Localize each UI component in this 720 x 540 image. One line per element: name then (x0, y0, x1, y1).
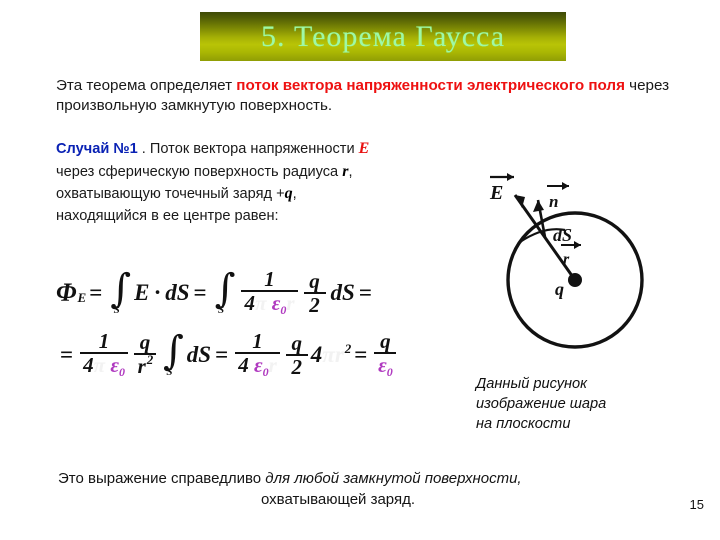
epsilon-subscript: 0 (263, 365, 269, 379)
flux-symbol-phi: Φ (56, 278, 77, 308)
equals-sign-3: = (359, 280, 372, 306)
integral-sign-2: ∫ S (215, 274, 236, 313)
equals-sign-1: = (89, 280, 102, 306)
integral-limit-S: S (218, 306, 224, 315)
fraction-q-over-r-squared: q r2 (134, 331, 156, 380)
fraction-denominator: 2 (306, 294, 323, 317)
fraction-numerator: q (376, 330, 395, 352)
fraction-one-over-4-eps0-r: 1 4 ε0r (235, 330, 280, 380)
label-E-group: E (489, 173, 514, 204)
fraction-numerator: q (305, 270, 324, 292)
case-line2-comma: , (348, 164, 352, 180)
case-line-4: находящийся в ее центре равен: (56, 206, 456, 228)
integral-glyph: ∫ (163, 336, 184, 366)
integral-glyph: ∫ (110, 274, 131, 304)
fraction-one-over-4-eps0: 1 4π ε0 (80, 330, 128, 380)
area-element-dS-2: dS (331, 280, 355, 306)
fraction-numerator: q (288, 332, 307, 354)
radius-r: r (138, 354, 146, 378)
integral-glyph: ∫ (215, 274, 236, 304)
factor-pi: π (322, 342, 335, 367)
radius-r: r (269, 353, 277, 377)
factor-r: r (335, 342, 344, 367)
case-label: Случай №1 (56, 141, 138, 157)
constant-4: 4 (83, 353, 94, 377)
closing-lead-text: Это выражение справедливо (58, 470, 265, 487)
case-line2-text: через сферическую поверхность радиуса (56, 164, 342, 180)
epsilon-zero: ε (110, 353, 119, 377)
factor-exponent-2: 2 (345, 341, 352, 356)
exponent-2: 2 (147, 352, 154, 367)
figure-caption: Данный рисунок изображение шара на плоск… (476, 374, 696, 434)
sphere-diagram-svg: E n dS r q (452, 152, 702, 368)
integral-limit-S: S (114, 306, 120, 315)
intro-highlight-line1: поток вектора напряженности электрическо… (236, 77, 584, 94)
fraction-denominator: ε0 (375, 354, 396, 380)
epsilon-subscript: 0 (280, 303, 286, 317)
symbol-E: E (359, 140, 370, 157)
case-block: Случай №1 . Поток вектора напряженности … (56, 138, 456, 227)
field-symbol-E: E (134, 280, 149, 306)
case-line3-comma: , (293, 186, 297, 202)
normal-vector-arrowhead (533, 200, 544, 212)
factor-4: 4 (311, 342, 323, 367)
closing-italic-text: для любой замкнутой поверхности, (265, 470, 521, 487)
closing-statement: Это выражение справедливо для любой замк… (58, 468, 618, 510)
equals-sign-6: = (354, 342, 367, 368)
E-overarrow-head (507, 173, 514, 181)
epsilon-zero: ε (254, 353, 263, 377)
fraction-numerator: 1 (95, 330, 114, 352)
figure-caption-line-3: на плоскости (476, 414, 696, 434)
case-line-3: охватывающую точечный заряд +q, (56, 183, 456, 206)
fraction-denominator: 2 (289, 356, 306, 379)
figure-label-n: n (549, 192, 558, 211)
figure-caption-line-1: Данный рисунок (476, 374, 696, 394)
case-line-1: Случай №1 . Поток вектора напряженности … (56, 138, 456, 161)
point-charge-dot (568, 273, 582, 287)
fraction-q-over-eps0: q ε0 (374, 330, 396, 380)
fraction-numerator: 1 (260, 268, 279, 290)
fraction-q-over-2: q 2 (286, 332, 308, 379)
radius-r: r (286, 291, 294, 315)
gauss-sphere-figure: E n dS r q (452, 152, 702, 368)
equals-sign-5: = (215, 342, 228, 368)
fraction-denominator: r2 (135, 355, 156, 380)
figure-label-dS: dS (553, 225, 572, 245)
label-r-group: r (561, 241, 581, 268)
case-line1-text: . Поток вектора напряженности (138, 141, 359, 157)
figure-caption-line-2: изображение шара (476, 394, 696, 414)
constant-4: 4 (238, 353, 249, 377)
integral-limit-S: S (166, 368, 172, 377)
symbol-q: q (285, 185, 293, 202)
slide-number: 15 (690, 497, 704, 512)
area-element-dS-3: dS (187, 342, 211, 368)
formula-area: ΦE = ∫ S E · dS = ∫ S 1 4π ε0r q 2 dS = … (56, 262, 476, 386)
figure-label-r: r (563, 251, 570, 268)
formula-row-1: ΦE = ∫ S E · dS = ∫ S 1 4π ε0r q 2 dS = (56, 262, 476, 324)
flux-symbol-subscript: E (78, 290, 87, 306)
intro-paragraph: Эта теорема определяет поток вектора нап… (56, 76, 682, 116)
integral-sign-1: ∫ S (110, 274, 131, 313)
label-n-group: n (547, 182, 569, 211)
epsilon-subscript: 0 (119, 365, 125, 379)
figure-label-E: E (489, 182, 503, 204)
constant-pi: π (255, 291, 266, 315)
fraction-one-over-4pi-eps0-r: 1 4π ε0r (241, 268, 297, 318)
fraction-denominator: 4 ε0r (235, 354, 280, 380)
fraction-numerator: q (136, 331, 155, 353)
intro-lead-text: Эта теорема определяет (56, 77, 236, 94)
slide-title-banner: 5. Теорема Гаусса (200, 12, 566, 61)
integral-sign-3: ∫ S (163, 336, 184, 375)
constant-pi: π (94, 353, 105, 377)
closing-line-2: охватывающей заряд. (58, 489, 618, 510)
case-line-2: через сферическую поверхность радиуса r, (56, 161, 456, 184)
formula-row-2: = 1 4π ε0 q r2 ∫ S dS = 1 4 ε0r q 2 4πr2… (56, 324, 476, 386)
epsilon-zero: ε (378, 353, 387, 377)
fraction-denominator: 4π ε0 (80, 354, 128, 380)
sphere-area-factor: 4πr2 (311, 342, 351, 368)
case-line3-text: охватывающую точечный заряд + (56, 186, 285, 202)
r-overarrow-head (574, 241, 581, 249)
equals-sign-4: = (60, 342, 73, 368)
intro-highlight-line2: поля (588, 77, 625, 94)
n-overarrow-head (562, 182, 569, 190)
closing-line-1: Это выражение справедливо для любой замк… (58, 468, 618, 489)
fraction-q-over-r2: q 2 (304, 270, 326, 317)
area-element-dS-1: dS (165, 280, 189, 306)
equals-sign-2: = (194, 280, 207, 306)
page-title: 5. Теорема Гаусса (261, 20, 505, 54)
epsilon-subscript: 0 (387, 365, 393, 379)
fraction-denominator: 4π ε0r (241, 292, 297, 318)
fraction-numerator: 1 (248, 330, 267, 352)
dot-operator: · (154, 280, 160, 306)
figure-label-q: q (555, 279, 564, 299)
constant-4: 4 (244, 291, 255, 315)
